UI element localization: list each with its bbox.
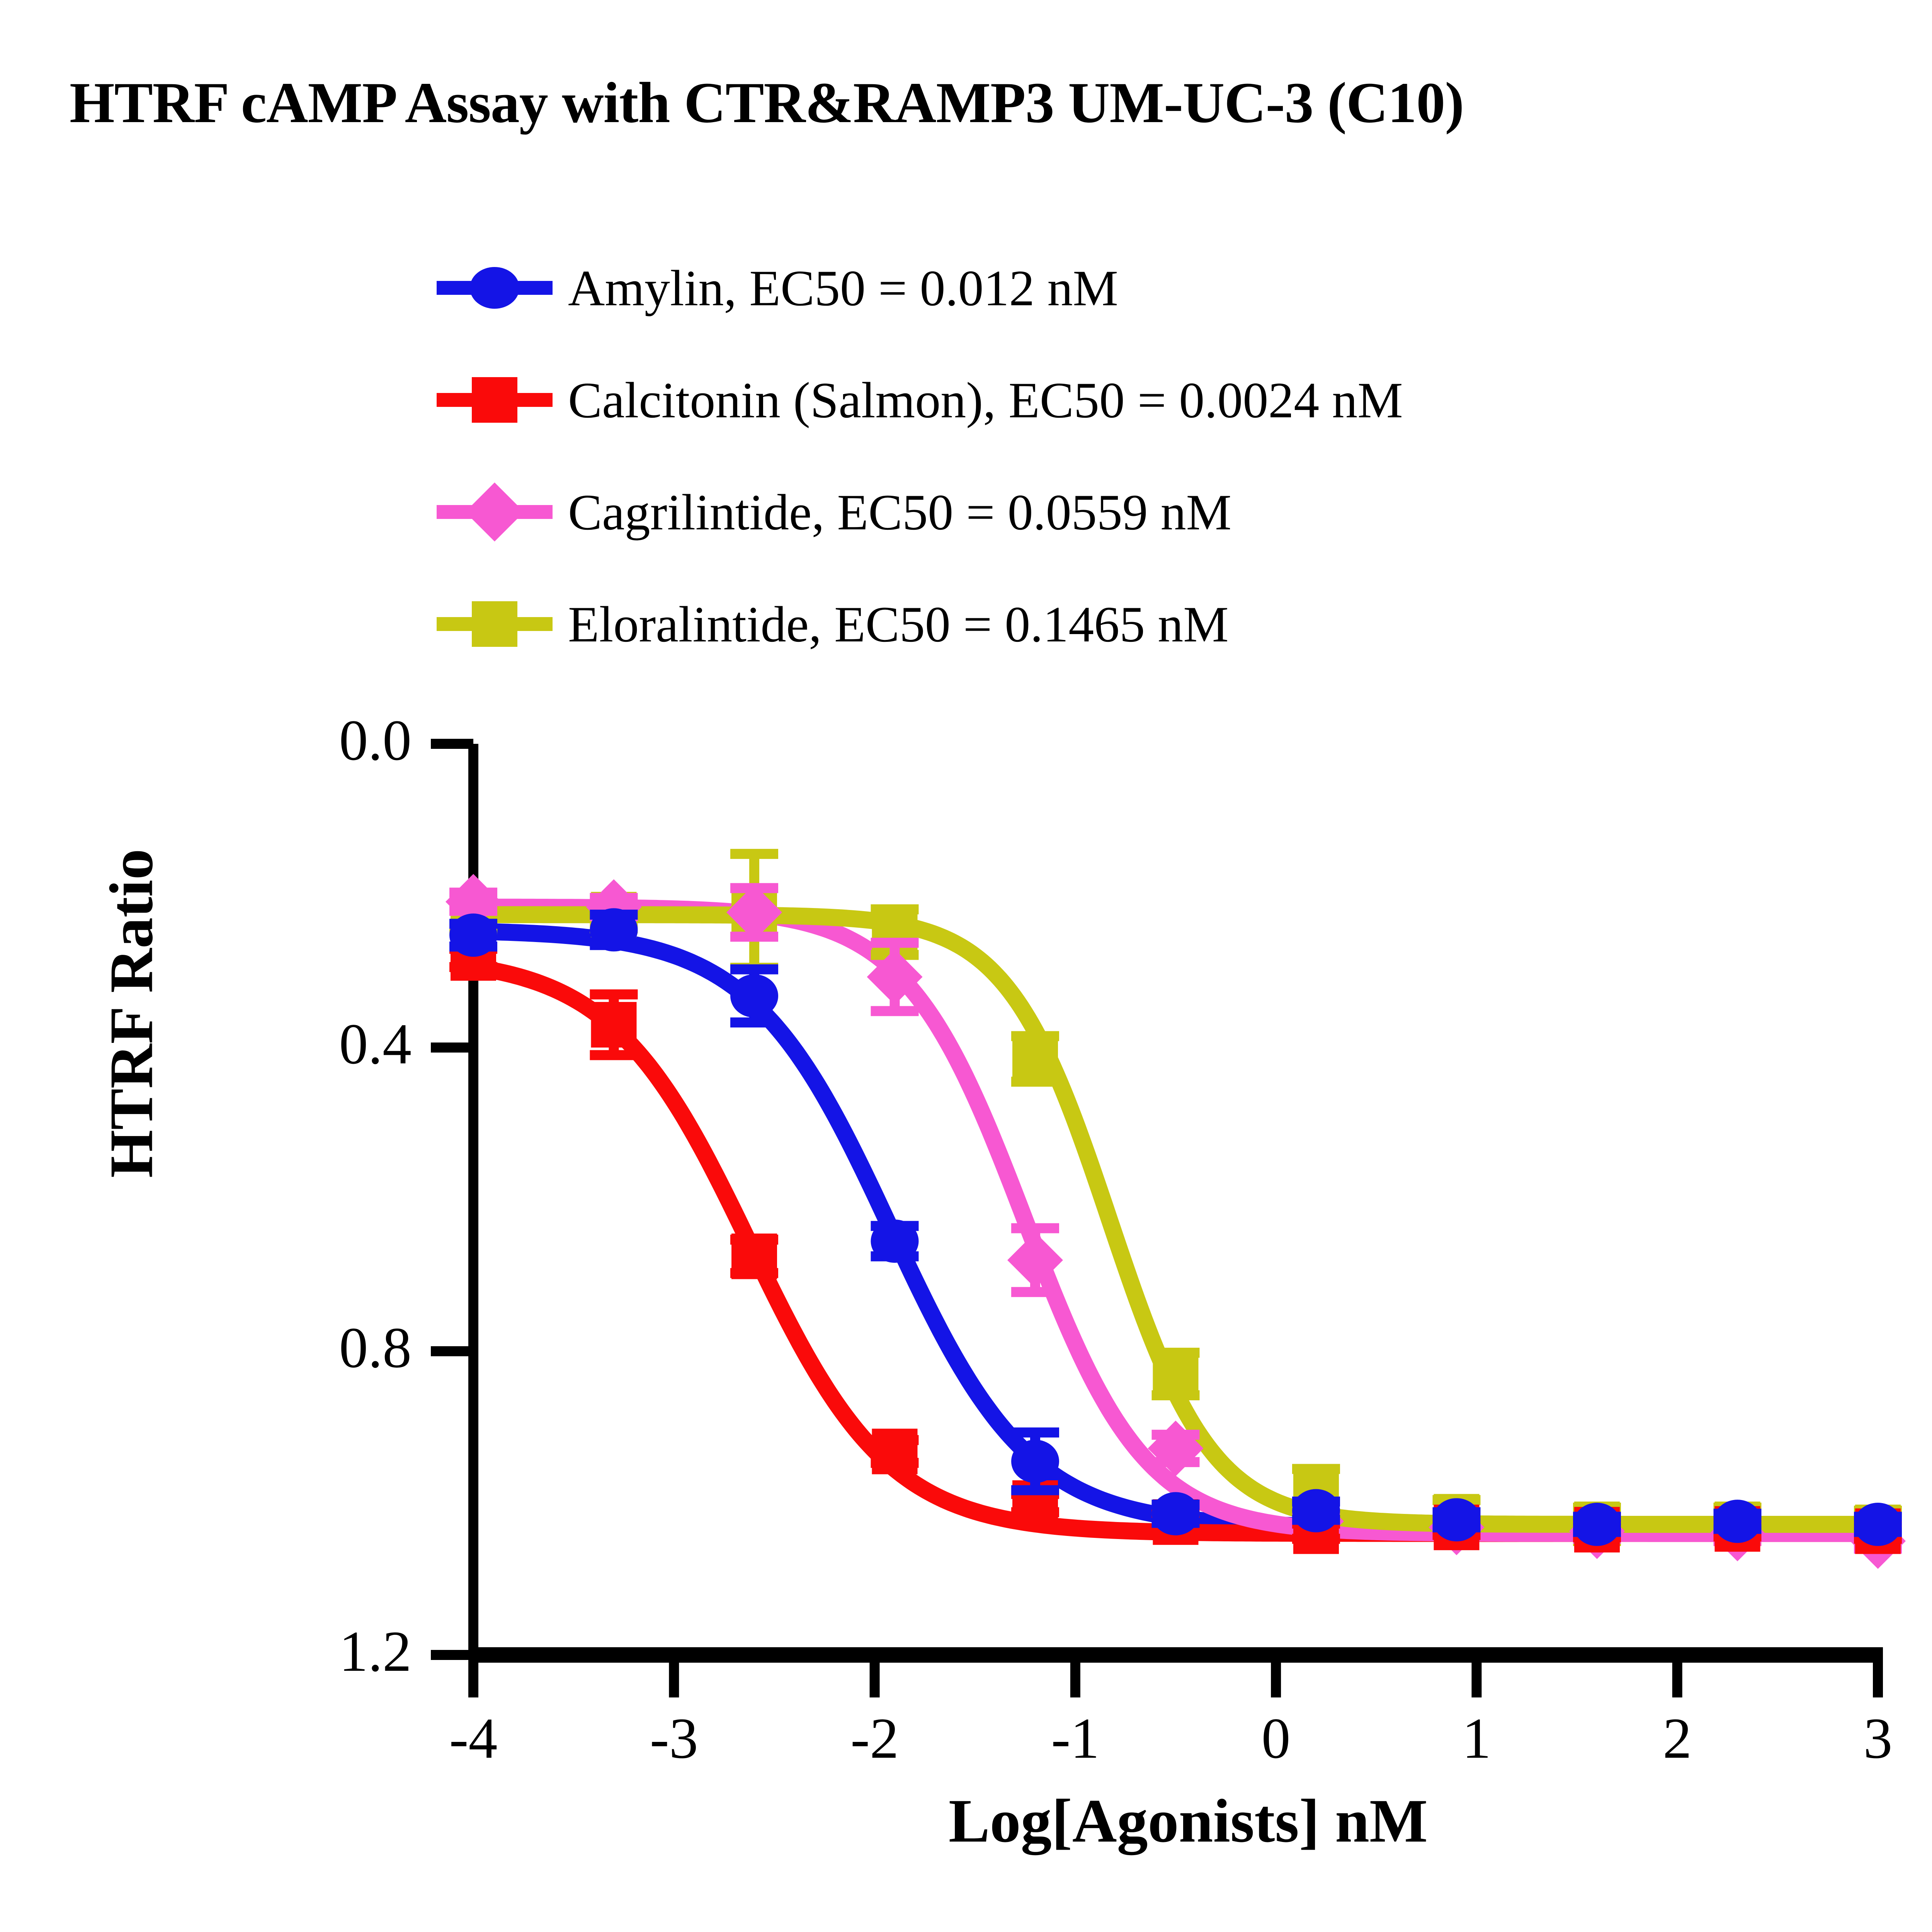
- data-point-circle[interactable]: [590, 908, 638, 951]
- x-axis-tick-label: 2: [1627, 1705, 1728, 1772]
- x-axis-title: Log[Agonists] nM: [473, 1785, 1903, 1857]
- x-axis-tick-label: 3: [1828, 1705, 1928, 1772]
- x-axis-tick-label: -2: [825, 1705, 925, 1772]
- data-point-square[interactable]: [591, 1002, 637, 1048]
- series-cagrilintide: [446, 874, 1906, 1569]
- data-point-circle[interactable]: [1152, 1492, 1200, 1536]
- data-point-circle[interactable]: [1292, 1489, 1340, 1532]
- y-axis-tick-label: 1.2: [257, 1618, 412, 1685]
- data-point-square[interactable]: [1153, 1351, 1199, 1397]
- x-axis-tick-label: 1: [1426, 1705, 1527, 1772]
- data-point-square[interactable]: [731, 1233, 777, 1279]
- data-point-circle[interactable]: [449, 913, 497, 957]
- data-point-circle[interactable]: [1714, 1500, 1762, 1543]
- x-axis-tick-label: 0: [1226, 1705, 1326, 1772]
- data-point-circle[interactable]: [1011, 1440, 1059, 1483]
- plot-area: Log[Agonists] nM HTRF Ratio 1.20.80.40.0…: [0, 0, 1932, 1932]
- data-point-circle[interactable]: [871, 1219, 919, 1263]
- data-point-circle[interactable]: [730, 974, 778, 1017]
- legend-symbol-circle-icon: [470, 267, 519, 309]
- data-point-square[interactable]: [872, 1429, 918, 1474]
- data-point-circle[interactable]: [1573, 1503, 1621, 1546]
- figure-root: HTRF cAMP Assay with CTR&RAMP3 UM-UC-3 (…: [0, 0, 1932, 1932]
- y-axis-tick-label: 0.8: [257, 1315, 412, 1381]
- data-point-circle[interactable]: [1854, 1503, 1902, 1546]
- y-axis-tick-label: 0.0: [257, 707, 412, 774]
- y-axis-tick-label: 0.4: [257, 1011, 412, 1077]
- data-point-circle[interactable]: [1433, 1498, 1481, 1541]
- legend-symbol-square-icon: [472, 377, 517, 423]
- y-axis-title: HTRF Ratio: [96, 743, 167, 1284]
- x-axis-tick-label: -4: [423, 1705, 524, 1772]
- x-axis-tick-label: -1: [1025, 1705, 1126, 1772]
- x-axis-tick-label: -3: [624, 1705, 724, 1772]
- data-point-square[interactable]: [1012, 1036, 1058, 1082]
- legend-symbol-square-icon: [472, 601, 517, 647]
